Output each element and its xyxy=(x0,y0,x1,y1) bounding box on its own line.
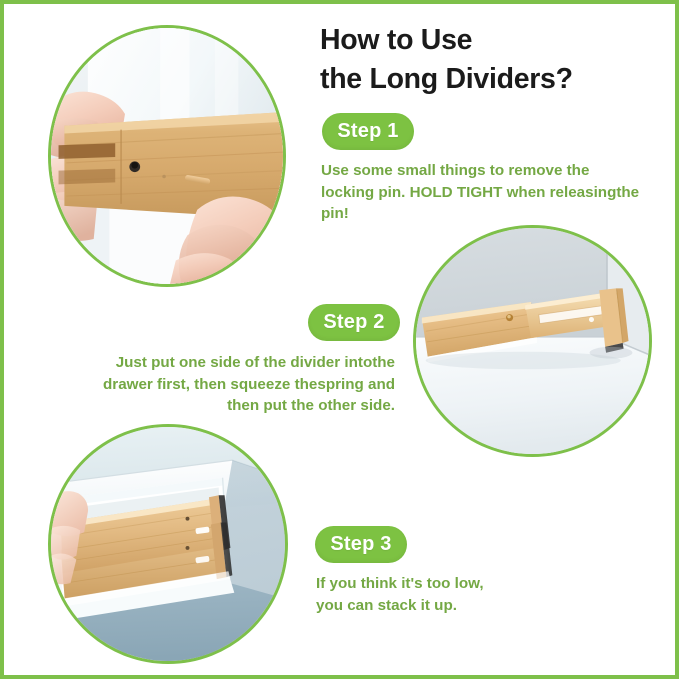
step-2-photo xyxy=(413,225,652,457)
step-1-badge: Step 1 xyxy=(322,113,414,150)
step-1-photo xyxy=(48,25,286,287)
step-3-badge: Step 3 xyxy=(315,526,407,563)
step-2-photo-illustration xyxy=(416,228,649,454)
step-2-description: Just put one side of the divider intothe… xyxy=(90,352,395,417)
page-title: How to Use the Long Dividers? xyxy=(320,21,670,99)
step-1-photo-illustration xyxy=(51,28,283,284)
infographic-canvas: How to Use the Long Dividers? Step 1 Use… xyxy=(0,0,679,679)
step-3-description: If you think it's too low, you can stack… xyxy=(316,573,646,616)
step-1-description: Use some small things to remove the lock… xyxy=(321,160,666,225)
step-3-photo xyxy=(48,424,288,664)
step-3-photo-illustration xyxy=(51,427,285,661)
step-2-badge: Step 2 xyxy=(308,304,400,341)
